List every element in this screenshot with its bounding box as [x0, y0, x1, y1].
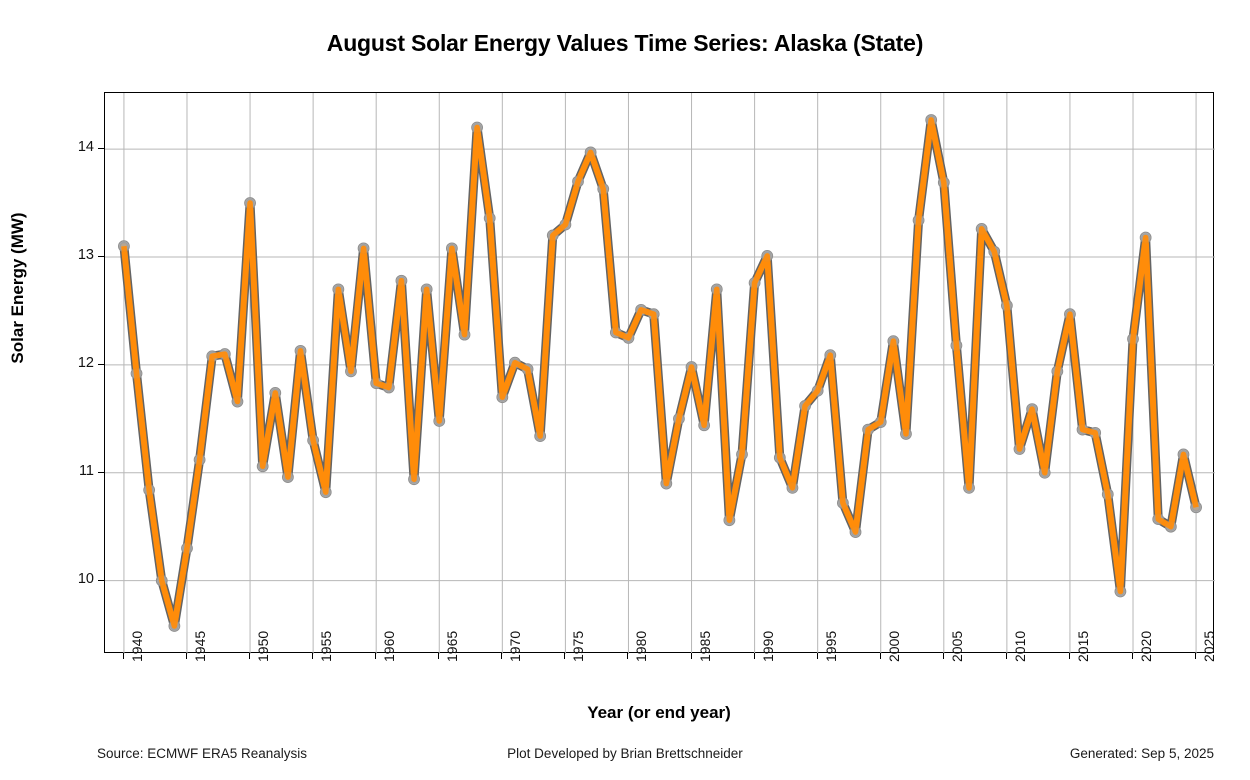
- chart-page: August Solar Energy Values Time Series: …: [0, 0, 1250, 780]
- x-tick-mark: [501, 653, 502, 659]
- x-tick-mark: [1006, 653, 1007, 659]
- x-tick-mark: [754, 653, 755, 659]
- x-tick-mark: [438, 653, 439, 659]
- y-tick-label: 14: [38, 139, 94, 155]
- x-tick-label: 1975: [570, 631, 586, 662]
- y-tick-mark: [98, 472, 104, 473]
- x-tick-label: 1970: [507, 631, 523, 662]
- x-tick-mark: [186, 653, 187, 659]
- x-tick-mark: [1132, 653, 1133, 659]
- x-tick-mark: [943, 653, 944, 659]
- y-axis-label: Solar Energy (MW): [8, 68, 28, 508]
- x-tick-label: 1990: [760, 631, 776, 662]
- plot-area: [104, 92, 1214, 653]
- x-tick-label: 1940: [129, 631, 145, 662]
- x-tick-label: 1950: [255, 631, 271, 662]
- x-tick-label: 2025: [1201, 631, 1217, 662]
- x-tick-label: 1945: [192, 631, 208, 662]
- y-tick-mark: [98, 148, 104, 149]
- x-tick-mark: [312, 653, 313, 659]
- x-tick-mark: [880, 653, 881, 659]
- plot-svg: [105, 93, 1215, 654]
- y-tick-mark: [98, 256, 104, 257]
- y-tick-mark: [98, 364, 104, 365]
- x-tick-label: 2010: [1012, 631, 1028, 662]
- page-title: August Solar Energy Values Time Series: …: [0, 30, 1250, 57]
- x-tick-mark: [1069, 653, 1070, 659]
- y-tick-label: 12: [38, 355, 94, 371]
- x-tick-label: 1955: [318, 631, 334, 662]
- x-tick-label: 1980: [633, 631, 649, 662]
- series-line-overlay: [124, 120, 1196, 626]
- x-tick-label: 2020: [1138, 631, 1154, 662]
- x-tick-label: 1995: [823, 631, 839, 662]
- x-tick-mark: [564, 653, 565, 659]
- y-tick-label: 10: [38, 571, 94, 587]
- footer-generated: Generated: Sep 5, 2025: [1070, 746, 1214, 761]
- x-tick-label: 1985: [697, 631, 713, 662]
- x-tick-mark: [375, 653, 376, 659]
- x-tick-mark: [627, 653, 628, 659]
- x-tick-mark: [1195, 653, 1196, 659]
- series-markers: [119, 115, 1202, 632]
- x-tick-mark: [249, 653, 250, 659]
- footer-credit: Plot Developed by Brian Brettschneider: [0, 746, 1250, 761]
- x-tick-mark: [817, 653, 818, 659]
- x-tick-label: 1960: [381, 631, 397, 662]
- x-axis-label: Year (or end year): [104, 703, 1214, 723]
- x-tick-label: 2000: [886, 631, 902, 662]
- x-tick-label: 1965: [444, 631, 460, 662]
- x-tick-label: 2005: [949, 631, 965, 662]
- y-tick-label: 11: [38, 463, 94, 479]
- x-tick-mark: [123, 653, 124, 659]
- y-tick-mark: [98, 580, 104, 581]
- x-tick-mark: [691, 653, 692, 659]
- x-tick-label: 2015: [1075, 631, 1091, 662]
- y-tick-label: 13: [38, 247, 94, 263]
